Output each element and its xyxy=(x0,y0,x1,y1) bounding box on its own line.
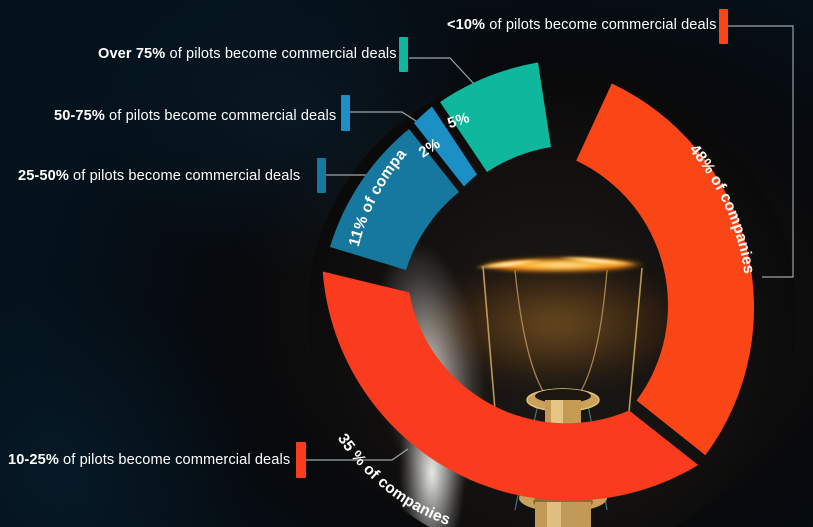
legend-label-50-75: 50-75% of pilots become commercial deals xyxy=(54,109,336,124)
legend-swatch-50-75[interactable] xyxy=(341,95,350,131)
legend-label-10-25-value: 10-25% xyxy=(8,452,59,468)
legend-label-lt10-text: of pilots become commercial deals xyxy=(485,17,716,33)
legend-label-10-25-text: of pilots become commercial deals xyxy=(59,452,290,468)
legend-label-over75: Over 75% of pilots become commercial dea… xyxy=(98,47,397,62)
legend-label-lt10: <10% of pilots become commercial deals xyxy=(447,18,716,33)
legend-label-over75-text: of pilots become commercial deals xyxy=(165,46,396,62)
donut-segment-48[interactable] xyxy=(576,84,754,456)
legend-label-50-75-text: of pilots become commercial deals xyxy=(105,108,336,124)
legend-label-50-75-value: 50-75% xyxy=(54,108,105,124)
infographic-root: 48% of companies 35 % of companies 11% o… xyxy=(0,0,813,527)
donut-segment-35[interactable] xyxy=(323,272,699,501)
legend-swatch-10-25[interactable] xyxy=(296,442,306,478)
legend-swatch-over75[interactable] xyxy=(399,37,408,72)
legend-label-25-50-text: of pilots become commercial deals xyxy=(69,168,300,184)
legend-label-lt10-value: <10% xyxy=(447,17,485,33)
legend-swatch-25-50[interactable] xyxy=(317,158,326,193)
legend-label-10-25: 10-25% of pilots become commercial deals xyxy=(8,453,290,468)
legend-label-over75-value: Over 75% xyxy=(98,46,165,62)
legend-swatch-lt10[interactable] xyxy=(719,9,728,44)
legend-label-25-50-value: 25-50% xyxy=(18,168,69,184)
legend-label-25-50: 25-50% of pilots become commercial deals xyxy=(18,169,300,184)
donut-chart: 48% of companies 35 % of companies 11% o… xyxy=(0,0,813,527)
